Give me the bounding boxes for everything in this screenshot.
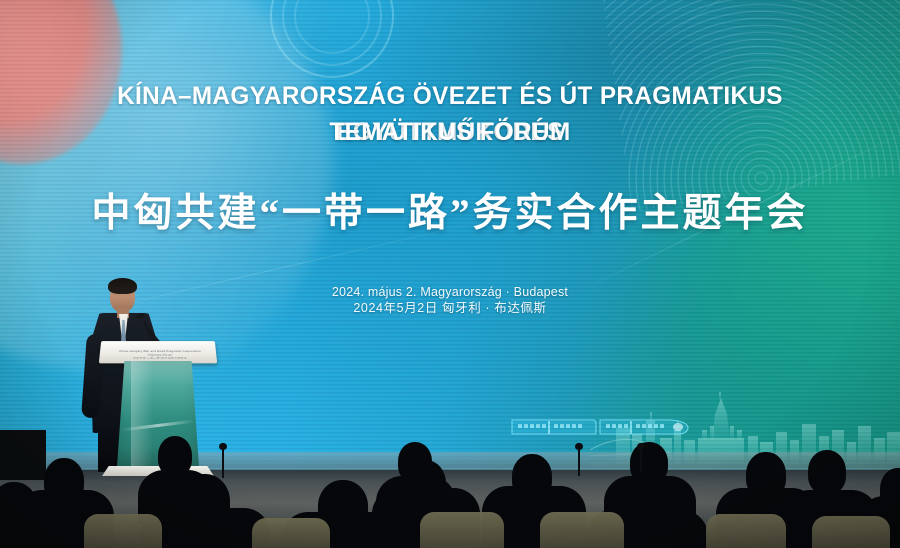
lectern-gloss-highlight	[131, 361, 153, 469]
high-speed-train-silhouette	[510, 412, 690, 442]
hungarian-title-line2: TEMATIKUS FÓRUM	[14, 114, 887, 150]
conference-photo: KÍNA–MAGYARORSZÁG ÖVEZET ÉS ÚT PRAGMATIK…	[0, 0, 900, 548]
lectern-top-surface: China–Hungary Belt and Road Pragmatic Co…	[99, 341, 217, 363]
lectern-body	[116, 361, 200, 469]
stage-wing-left	[0, 430, 46, 480]
lectern-nameplate-line2: 中匈共建“一带一路”务实合作主题年会	[113, 357, 206, 359]
lectern-podium: China–Hungary Belt and Road Pragmatic Co…	[96, 340, 216, 490]
speaker-hair	[108, 278, 137, 294]
lectern-base	[102, 466, 214, 476]
chinese-title: 中匈共建“一带一路”务实合作主题年会	[0, 182, 900, 238]
lectern-nameplate: China–Hungary Belt and Road Pragmatic Co…	[113, 349, 206, 358]
lectern-nameplate-line1: China–Hungary Belt and Road Pragmatic Co…	[114, 349, 207, 356]
